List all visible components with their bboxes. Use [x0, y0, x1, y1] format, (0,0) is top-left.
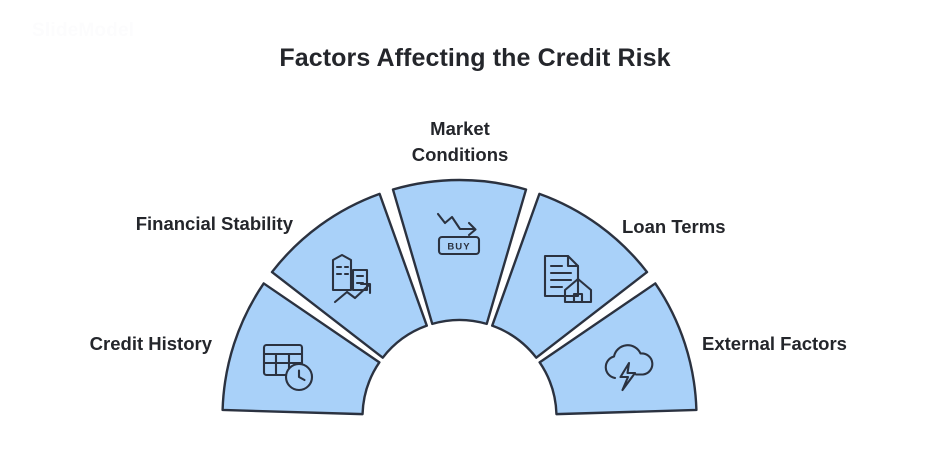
label-financial-stability: Financial Stability: [50, 211, 293, 237]
slide-canvas: SlideModel Factors Affecting the Credit …: [0, 0, 950, 476]
buy-label: BUY: [447, 242, 470, 253]
label-loan-terms: Loan Terms: [622, 214, 852, 240]
label-external-factors: External Factors: [702, 331, 940, 357]
label-market-conditions: Market Conditions: [362, 116, 558, 167]
label-credit-history: Credit History: [20, 331, 212, 357]
